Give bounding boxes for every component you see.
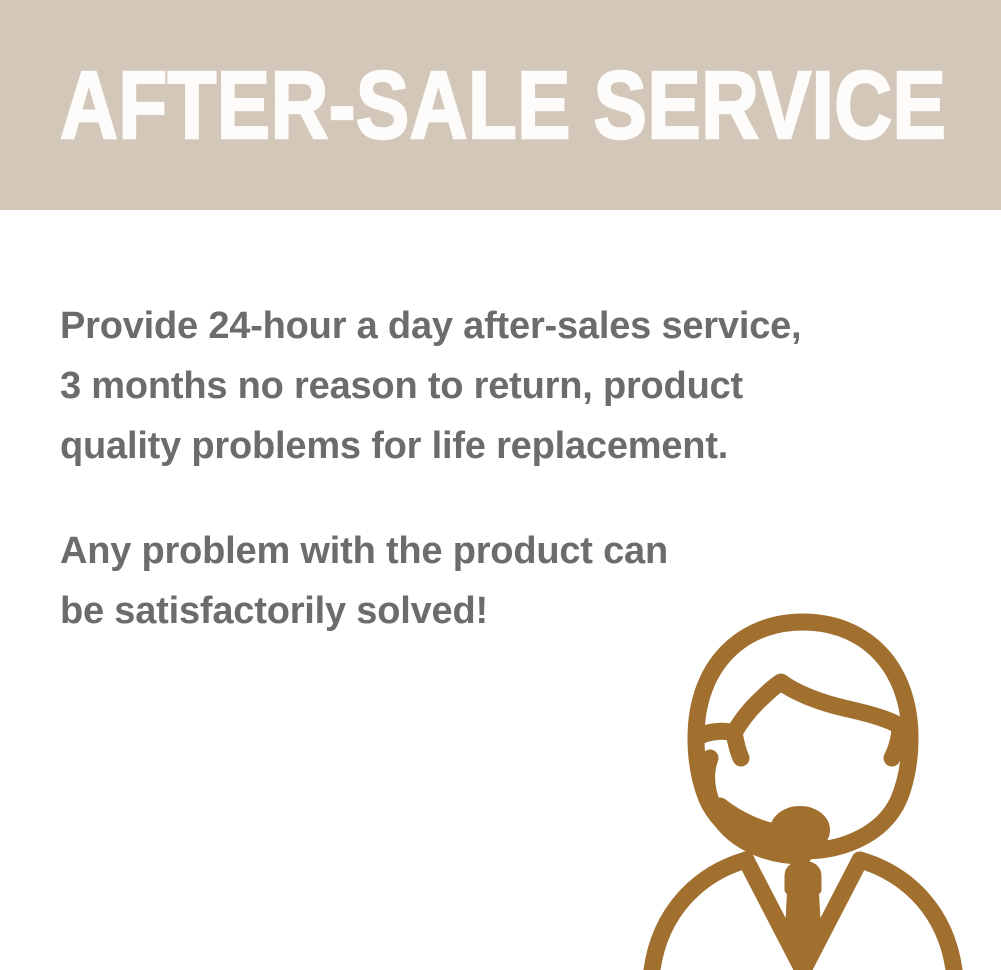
after-sale-service-card: AFTER-SALE SERVICE Provide 24-hour a day… bbox=[0, 0, 1001, 970]
tie-knot bbox=[789, 865, 817, 890]
right-shoulder bbox=[860, 860, 954, 970]
microphone-capsule bbox=[775, 811, 825, 849]
paragraph-warranty: Provide 24-hour a day after-sales servic… bbox=[60, 296, 960, 476]
right-lapel bbox=[803, 860, 860, 970]
left-lapel bbox=[746, 860, 803, 970]
left-shoulder bbox=[652, 860, 746, 970]
header-banner: AFTER-SALE SERVICE bbox=[0, 0, 1001, 210]
hair-fringe bbox=[700, 682, 907, 736]
paragraph-satisfaction: Any problem with the product can be sati… bbox=[60, 521, 960, 641]
head-outline bbox=[696, 622, 910, 851]
paragraph-line: quality problems for life replacement. bbox=[60, 416, 960, 476]
headset-band bbox=[707, 758, 803, 856]
agent-line-art bbox=[652, 622, 954, 970]
body-copy: Provide 24-hour a day after-sales servic… bbox=[60, 296, 960, 641]
paragraph-line: Any problem with the product can bbox=[60, 521, 960, 581]
customer-service-agent-icon bbox=[638, 598, 968, 970]
page-title: AFTER-SALE SERVICE bbox=[60, 52, 802, 160]
paragraph-line: 3 months no reason to return, product bbox=[60, 356, 960, 416]
tie-blade bbox=[788, 892, 818, 970]
paragraph-line: Provide 24-hour a day after-sales servic… bbox=[60, 296, 960, 356]
microphone-boom bbox=[720, 806, 780, 833]
customer-service-agent-svg bbox=[638, 598, 968, 970]
left-temple bbox=[734, 733, 741, 758]
paragraph-line: be satisfactorily solved! bbox=[60, 581, 960, 641]
right-temple bbox=[892, 726, 900, 758]
